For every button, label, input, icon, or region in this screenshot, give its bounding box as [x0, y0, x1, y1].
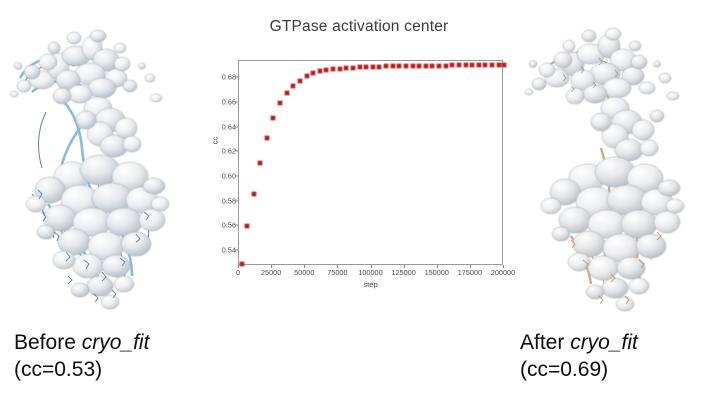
caption-after-cc: (cc=0.69)	[520, 357, 638, 384]
data-point	[397, 64, 402, 69]
data-point	[483, 63, 488, 68]
data-point	[423, 63, 428, 68]
data-point	[430, 63, 435, 68]
data-point	[244, 224, 249, 229]
x-tick-label: 100000	[358, 268, 382, 277]
data-point	[350, 65, 355, 70]
x-axis-label: step	[238, 280, 503, 289]
chart-title: GTPase activation center	[203, 18, 515, 36]
data-point	[311, 71, 316, 76]
data-point	[284, 91, 289, 96]
data-point	[317, 69, 322, 74]
data-point	[271, 115, 276, 120]
y-tick-label: 0.62	[222, 147, 236, 156]
y-tick-label: 0.64	[222, 122, 236, 131]
density-neck-before	[76, 97, 141, 157]
density-surface-after	[525, 28, 679, 104]
caption-after-prefix: After	[520, 331, 570, 354]
y-tick-label: 0.56	[222, 221, 236, 230]
data-point	[403, 63, 408, 68]
data-point	[337, 66, 342, 71]
data-point	[251, 192, 256, 197]
x-tick-label: 0	[236, 268, 240, 277]
data-point	[443, 63, 448, 68]
x-tick-label: 75000	[327, 268, 347, 277]
data-point	[476, 63, 481, 68]
caption-after-italic: cryo_fit	[570, 331, 638, 354]
data-point	[258, 160, 263, 165]
data-point	[324, 68, 329, 73]
x-tick-label: 175000	[458, 268, 482, 277]
data-point	[370, 64, 375, 69]
data-point	[264, 136, 269, 141]
caption-after: After cryo_fit (cc=0.69)	[520, 330, 638, 384]
data-point	[456, 63, 461, 68]
data-point	[410, 63, 415, 68]
molecule-after-svg	[515, 8, 720, 318]
x-tick-label: 125000	[391, 268, 415, 277]
data-point	[297, 78, 302, 83]
y-tick-labels: 0.540.560.580.600.620.640.660.68	[203, 60, 236, 265]
y-tick-label: 0.68	[222, 73, 236, 82]
caption-before-prefix: Before	[14, 331, 82, 354]
y-tick-label: 0.58	[222, 196, 236, 205]
molecule-before-svg	[2, 8, 207, 318]
data-point	[278, 100, 283, 105]
plot-area	[238, 60, 503, 265]
data-point	[377, 64, 382, 69]
y-tick-label: 0.54	[222, 246, 236, 255]
data-point	[417, 63, 422, 68]
data-point	[357, 65, 362, 70]
x-tick-label: 200000	[491, 268, 515, 277]
caption-before: Before cryo_fit (cc=0.53)	[14, 330, 149, 384]
data-point	[384, 64, 389, 69]
data-point	[390, 64, 395, 69]
x-tick-label: 50000	[294, 268, 314, 277]
caption-before-italic: cryo_fit	[82, 331, 150, 354]
x-tick-label: 25000	[261, 268, 281, 277]
data-point	[437, 63, 442, 68]
data-point	[291, 83, 296, 88]
x-tick-label: 150000	[425, 268, 449, 277]
data-point	[463, 63, 468, 68]
data-point	[496, 63, 501, 68]
caption-before-cc: (cc=0.53)	[14, 357, 149, 384]
cc-vs-step-chart: GTPase activation center cc 0.540.560.58…	[203, 8, 515, 308]
density-lower-after	[541, 157, 684, 311]
data-point	[502, 63, 507, 68]
data-point	[450, 63, 455, 68]
y-tick-label: 0.60	[222, 172, 236, 181]
data-point	[364, 65, 369, 70]
data-point	[470, 63, 475, 68]
data-point	[344, 66, 349, 71]
data-point	[490, 63, 495, 68]
data-points-layer	[239, 61, 502, 264]
cryo-em-density-after-image	[515, 8, 720, 318]
density-lower-before	[26, 155, 169, 309]
x-tick-labels: 0250005000075000100000125000150000175000…	[238, 265, 503, 281]
cryo-em-density-before-image	[2, 8, 207, 318]
data-point	[304, 74, 309, 79]
y-tick-label: 0.66	[222, 97, 236, 106]
data-point	[331, 67, 336, 72]
